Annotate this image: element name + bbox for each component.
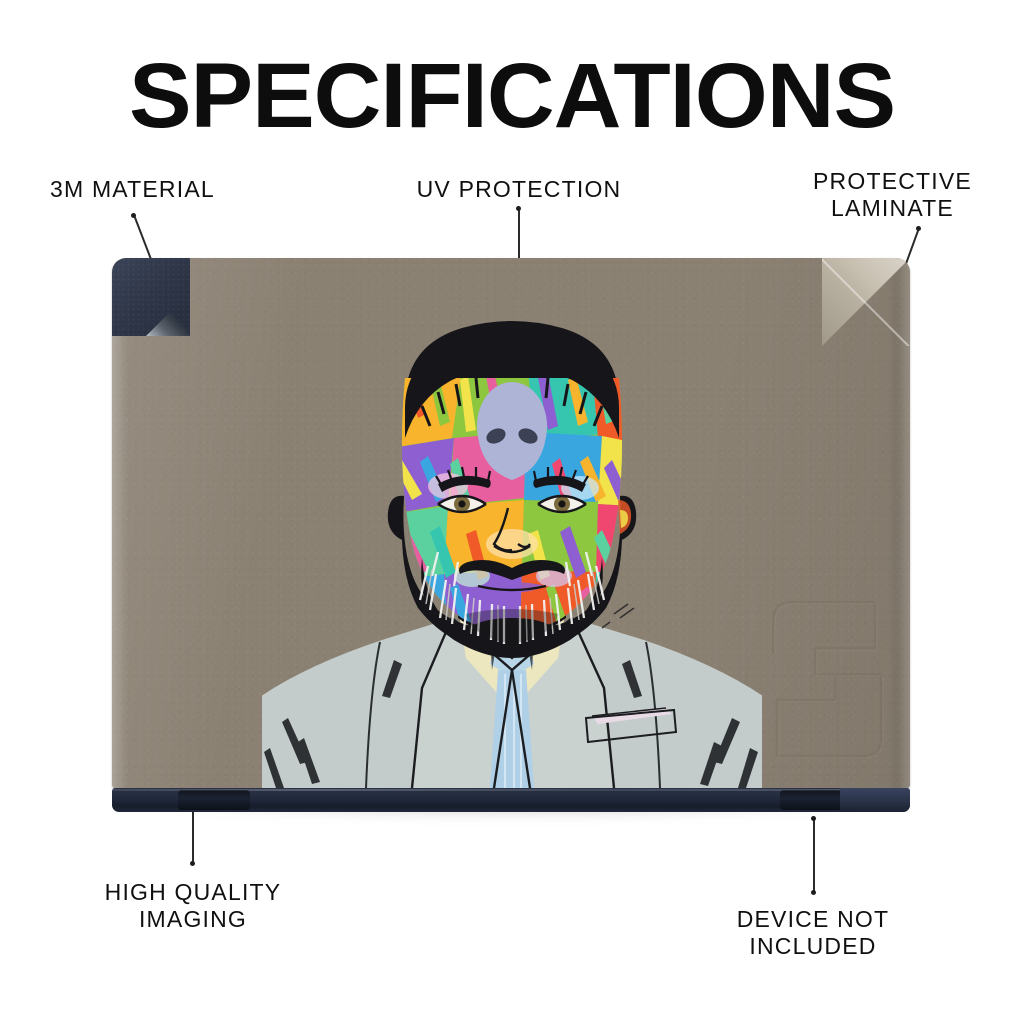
laptop-lid-with-skin (112, 258, 910, 788)
laptop-hinge-left (178, 790, 250, 810)
lid-left-edge-highlight (112, 258, 128, 788)
callout-label-high-quality-imaging: HIGH QUALITY IMAGING (62, 879, 324, 933)
leader-dot-3m-material-start (131, 213, 136, 218)
leader-dot-uv-protection-start (516, 206, 521, 211)
peel-corner-3m-vinyl (112, 258, 190, 336)
skin-artwork-portrait (262, 318, 762, 788)
callout-label-device-not-included: DEVICE NOT INCLUDED (682, 906, 944, 960)
peel-corner-protective-laminate (822, 258, 910, 346)
brand-emblem-embossed (757, 588, 897, 770)
laptop-base-corner-right (840, 788, 910, 812)
leader-line-uv-protection (518, 208, 520, 264)
leader-dot-device-not-included-end (811, 890, 816, 895)
laptop-device (112, 258, 910, 812)
specifications-infographic: SPECIFICATIONS 3M MATERIAL UV PROTECTION… (0, 0, 1024, 1024)
laptop-hinge-right (780, 790, 848, 810)
callout-label-3m-material: 3M MATERIAL (50, 176, 310, 203)
callout-label-uv-protection: UV PROTECTION (389, 176, 649, 203)
leader-dot-high-quality-imaging-end (190, 861, 195, 866)
page-title: SPECIFICATIONS (0, 48, 1024, 144)
leader-dot-protective-laminate-start (916, 226, 921, 231)
callout-label-protective-laminate: PROTECTIVE LAMINATE (770, 168, 1015, 222)
leader-line-device-not-included (813, 818, 815, 894)
